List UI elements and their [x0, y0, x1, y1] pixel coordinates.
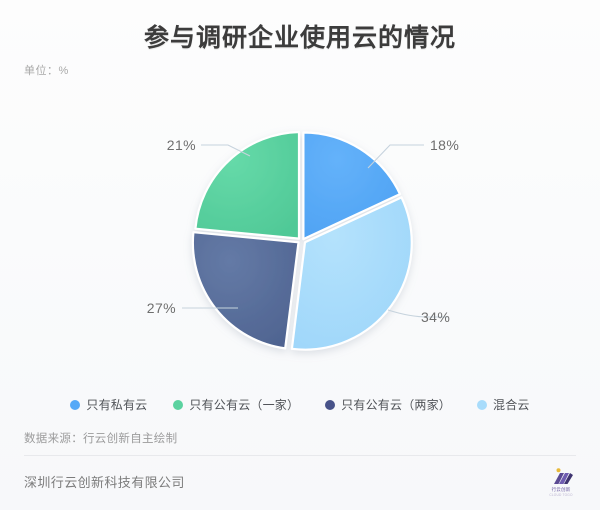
chart-legend: 只有私有云 只有公有云（一家） 只有公有云（两家） 混合云 [0, 396, 600, 413]
unit-label: 单位：% [24, 62, 69, 78]
legend-dot-icon [477, 400, 487, 410]
pct-label-27: 27% [147, 300, 176, 316]
pie-chart: 18% 34% 27% 21% [0, 95, 600, 380]
pie-slice-public-two[interactable] [193, 232, 299, 348]
legend-item-private-cloud[interactable]: 只有私有云 [70, 396, 147, 413]
chart-page: 参与调研企业使用云的情况 单位：% [0, 0, 600, 510]
legend-item-hybrid-cloud[interactable]: 混合云 [477, 396, 530, 413]
pct-label-18: 18% [430, 137, 459, 153]
data-source-text: 数据来源：行云创新自主绘制 [24, 430, 177, 446]
company-logo: 行云创新 CLOUD TOGO [540, 466, 582, 500]
logo-mark-icon [540, 466, 582, 488]
legend-item-label: 只有公有云（一家） [189, 396, 299, 413]
pie-slice-public-one[interactable] [195, 132, 299, 239]
logo-text: 行云创新 [540, 487, 582, 492]
legend-item-label: 只有私有云 [86, 396, 147, 413]
footer-company-name: 深圳行云创新科技有限公司 [24, 472, 185, 491]
legend-item-label: 只有公有云（两家） [341, 396, 451, 413]
legend-item-public-one[interactable]: 只有公有云（一家） [173, 396, 299, 413]
pie-chart-svg: 18% 34% 27% 21% [0, 95, 600, 380]
pct-label-21: 21% [167, 137, 196, 153]
legend-item-public-two[interactable]: 只有公有云（两家） [325, 396, 451, 413]
pct-label-34: 34% [421, 309, 450, 325]
legend-item-label: 混合云 [493, 396, 530, 413]
footer-divider [24, 455, 576, 456]
legend-dot-icon [173, 400, 183, 410]
logo-subtext: CLOUD TOGO [540, 493, 582, 497]
legend-dot-icon [70, 400, 80, 410]
legend-dot-icon [325, 400, 335, 410]
page-title: 参与调研企业使用云的情况 [0, 18, 600, 54]
